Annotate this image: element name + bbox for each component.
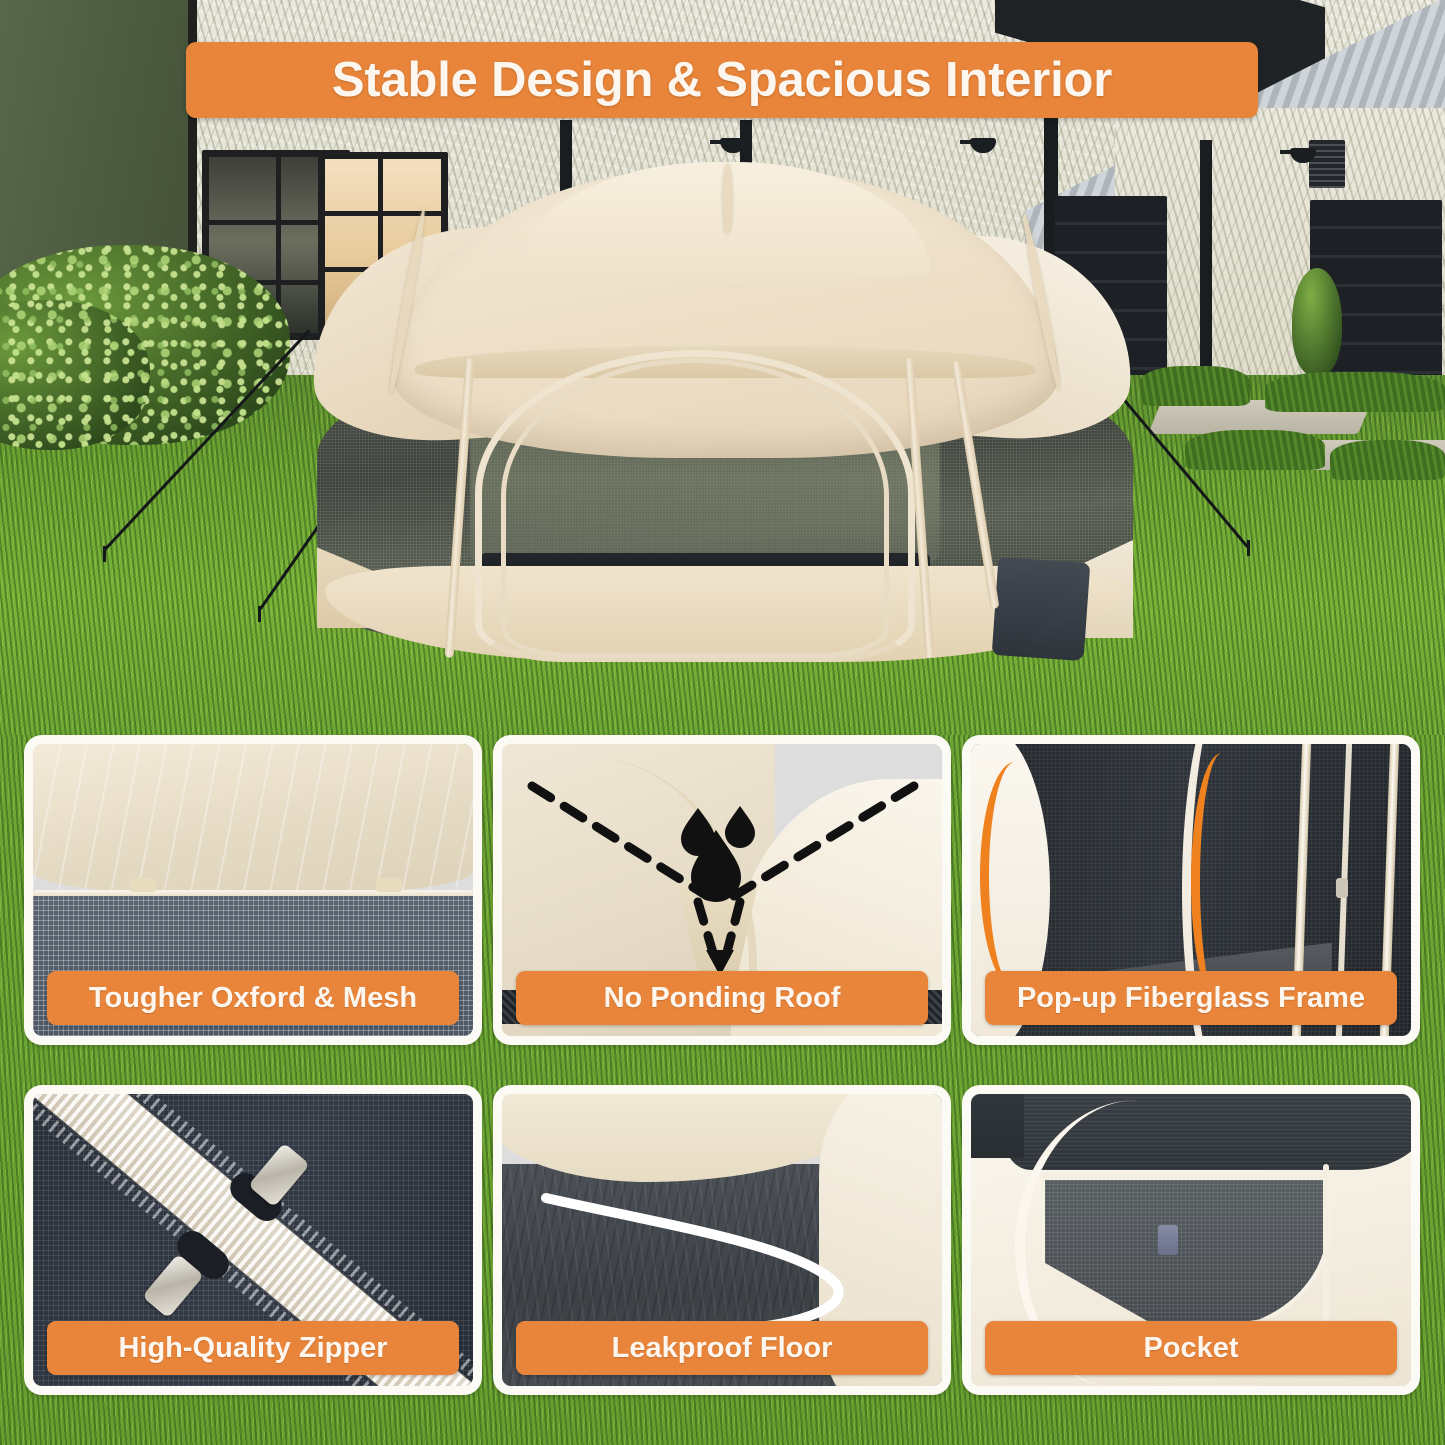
caption-text: Leakproof Floor [612,1332,833,1365]
hedge-clump-d [1330,440,1445,480]
topiary-right [1292,268,1342,376]
guy-stake-left-outer [103,546,106,562]
page-title: Stable Design & Spacious Interior [332,52,1112,108]
hedge-clump-b [1265,372,1445,412]
tent-door-arch-inner [501,358,889,658]
frame-highlight-left [980,762,1050,990]
feature-tile-zipper[interactable]: High-Quality Zipper [24,1085,482,1395]
feature-tile-pocket[interactable]: Pocket [962,1085,1420,1395]
barn-light-icon-2 [960,140,974,144]
floor-seam-highlight-curve [546,1198,839,1328]
gable-vent-icon [1309,140,1345,188]
water-drop-small-right [725,806,755,848]
zipper-pull-icon [1336,878,1348,898]
barn-light-icon-3 [1280,150,1294,154]
hedge-clump-c [1185,430,1325,470]
fabric-tab-left [130,878,156,892]
caption-text: Tougher Oxford & Mesh [89,982,417,1015]
caption-text: High-Quality Zipper [118,1332,387,1365]
tent-product [295,168,1155,688]
mesh-panel-upper-left [962,1085,1024,1158]
feature-tile-oxford-mesh[interactable]: Tougher Oxford & Mesh [24,735,482,1045]
caption-text: Pocket [1143,1332,1238,1365]
wall-vertical-seam [1323,1164,1329,1328]
feature-caption-no-ponding-roof: No Ponding Roof [516,971,928,1025]
dashed-flow-line-left [532,786,707,896]
feature-caption-zipper: High-Quality Zipper [47,1321,459,1375]
dashed-flow-line-right [734,786,914,896]
barn-light-icon [710,140,724,144]
feature-tile-leakproof-floor[interactable]: Leakproof Floor [493,1085,951,1395]
canopy-seam-center [723,164,732,234]
hedge-clump-a [1140,366,1250,406]
guy-stake-right-outer [1247,540,1250,556]
feature-caption-leakproof-floor: Leakproof Floor [516,1321,928,1375]
product-infographic: Stable Design & Spacious Interior Toughe… [0,0,1445,1445]
caption-text: Pop-up Fiberglass Frame [1017,982,1365,1015]
feature-tile-no-ponding-roof[interactable]: No Ponding Roof [493,735,951,1045]
dashed-flow-line-down-right [726,902,740,956]
pocket-top-seam [1041,1173,1331,1179]
feature-caption-fiberglass-frame: Pop-up Fiberglass Frame [985,971,1397,1025]
feature-grid: Tougher Oxford & Mesh [0,735,1445,1445]
caption-text: No Ponding Roof [604,982,841,1015]
dashed-flow-line-down-left [698,902,714,956]
hero-image: Stable Design & Spacious Interior [0,0,1445,735]
feature-caption-oxford-mesh: Tougher Oxford & Mesh [47,971,459,1025]
oxford-fabric-panel [33,744,473,896]
feature-caption-pocket: Pocket [985,1321,1397,1375]
tent-side-window [992,557,1091,661]
title-banner: Stable Design & Spacious Interior [186,42,1258,118]
fabric-tab-right [376,878,402,892]
pocket-contents [1158,1225,1178,1255]
feature-tile-fiberglass-frame[interactable]: Pop-up Fiberglass Frame [962,735,1420,1045]
guy-stake-left-inner [258,606,261,622]
